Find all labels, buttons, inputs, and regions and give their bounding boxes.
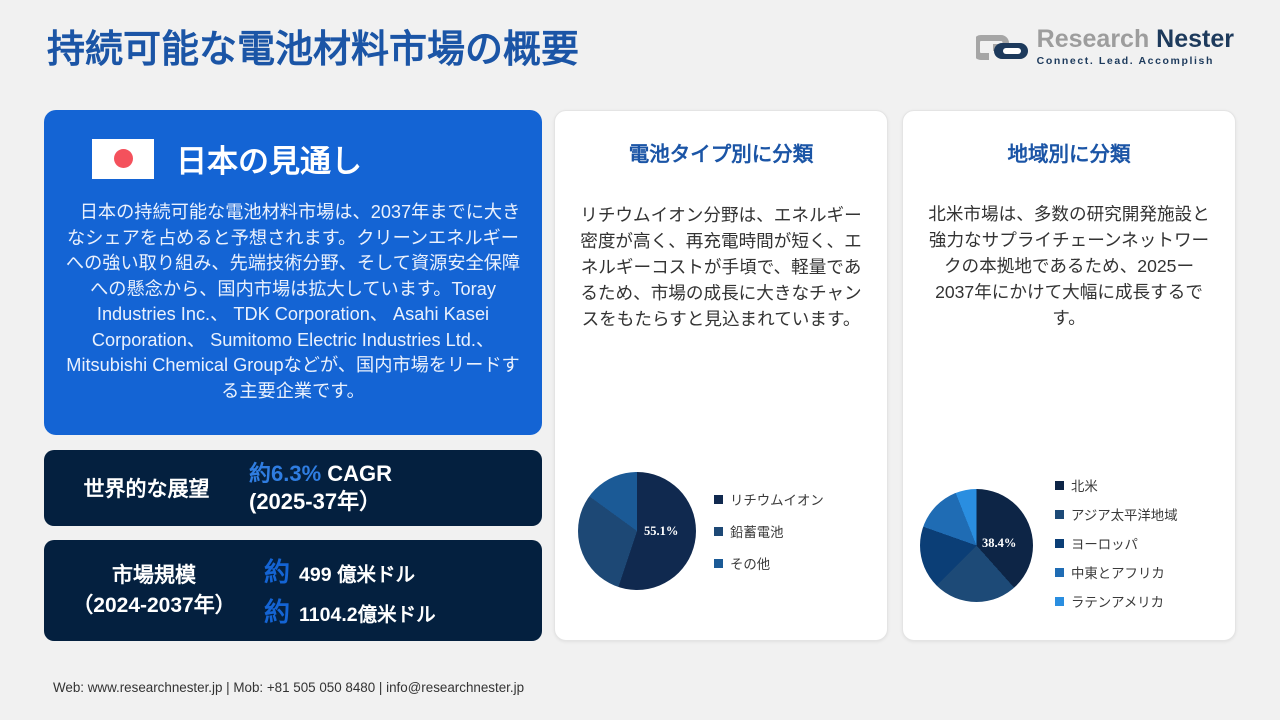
region-pie-graphic: 38.4% bbox=[920, 489, 1033, 602]
legend-label: 北米 bbox=[1071, 475, 1098, 495]
market-size-approx-2: 約 bbox=[264, 592, 290, 629]
legend-label: 中東とアフリカ bbox=[1071, 562, 1165, 582]
battery-type-card-title: 電池タイプ別に分類 bbox=[555, 137, 887, 167]
legend-label: その他 bbox=[730, 553, 770, 573]
logo-wordmark: Research Nester bbox=[1037, 26, 1234, 52]
region-pie-legend: 北米 アジア太平洋地域 ヨーロッパ 中東とアフリカ ラテンアメリカ bbox=[1055, 466, 1178, 620]
legend-swatch-icon bbox=[1055, 539, 1064, 548]
logo-tagline: Connect. Lead. Accomplish bbox=[1037, 54, 1234, 68]
logo-text: Research Nester Connect. Lead. Accomplis… bbox=[1037, 26, 1234, 68]
battery-type-pie-datalabel: 55.1% bbox=[644, 524, 678, 539]
cagr-box-value: 約6.3% CAGR (2025-37年） bbox=[249, 460, 542, 516]
legend-label: ヨーロッパ bbox=[1071, 533, 1138, 553]
legend-label: 鉛蓄電池 bbox=[730, 521, 784, 541]
legend-item: ヨーロッパ bbox=[1055, 533, 1178, 553]
market-size-label-line2: （2024-2037年） bbox=[72, 594, 235, 617]
legend-swatch-icon bbox=[714, 495, 723, 504]
market-size-label-line1: 市場規模 bbox=[112, 564, 196, 587]
legend-item: ラテンアメリカ bbox=[1055, 591, 1178, 611]
legend-swatch-icon bbox=[1055, 568, 1064, 577]
cagr-box-label: 世界的な展望 bbox=[44, 473, 249, 503]
japan-card-body: 日本の持続可能な電池材料市場は、2037年までに大きなシェアを占めると予想されま… bbox=[64, 200, 522, 404]
logo-mark-icon bbox=[976, 29, 1028, 65]
market-size-box: 市場規模 （2024-2037年） 約 499 億米ドル 約 1104.2億米ド… bbox=[44, 540, 542, 641]
legend-swatch-icon bbox=[714, 559, 723, 568]
page-title: 持続可能な電池材料市場の概要 bbox=[47, 18, 579, 73]
battery-type-pie-legend: リチウムイオン 鉛蓄電池 その他 bbox=[714, 477, 824, 585]
legend-swatch-icon bbox=[1055, 597, 1064, 606]
legend-swatch-icon bbox=[1055, 510, 1064, 519]
market-size-values: 約 499 億米ドル 約 1104.2億米ドル bbox=[264, 549, 542, 632]
japan-flag-icon bbox=[92, 139, 154, 179]
legend-label: アジア太平洋地域 bbox=[1071, 504, 1178, 524]
japan-flag-sun bbox=[114, 149, 133, 168]
battery-type-pie-graphic: 55.1% bbox=[578, 472, 696, 590]
battery-type-pie-chart: 55.1% リチウムイオン 鉛蓄電池 その他 bbox=[578, 472, 824, 590]
legend-item: 中東とアフリカ bbox=[1055, 562, 1178, 582]
legend-label: リチウムイオン bbox=[730, 489, 824, 509]
legend-item: その他 bbox=[714, 553, 824, 573]
legend-item: 北米 bbox=[1055, 475, 1178, 495]
legend-label: ラテンアメリカ bbox=[1071, 591, 1164, 611]
region-pie-chart: 38.4% 北米 アジア太平洋地域 ヨーロッパ 中東とアフリカ ラテンアメリカ bbox=[920, 470, 1178, 620]
region-card-title: 地域別に分類 bbox=[903, 137, 1235, 167]
cagr-percent: 約6.3% bbox=[249, 461, 321, 486]
japan-outlook-card: 日本の見通し 日本の持続可能な電池材料市場は、2037年までに大きなシェアを占め… bbox=[44, 110, 542, 435]
legend-item: 鉛蓄電池 bbox=[714, 521, 824, 541]
battery-type-card-body: リチウムイオン分野は、エネルギー密度が高く、再充電時間が短く、エネルギーコストが… bbox=[579, 202, 863, 332]
region-card-body: 北米市場は、多数の研究開発施設と強力なサプライチェーンネットワークの本拠地である… bbox=[927, 201, 1211, 331]
market-size-row-2024: 約 499 億米ドル bbox=[264, 552, 532, 589]
market-size-value-1: 499 億米ドル bbox=[299, 558, 415, 587]
market-size-approx-1: 約 bbox=[264, 552, 290, 589]
japan-card-header: 日本の見通し bbox=[92, 136, 522, 181]
market-size-label: 市場規模 （2024-2037年） bbox=[44, 561, 264, 621]
footer-contact: Web: www.researchnester.jp | Mob: +81 50… bbox=[53, 680, 524, 695]
research-nester-logo: Research Nester Connect. Lead. Accomplis… bbox=[976, 23, 1234, 71]
japan-card-title: 日本の見通し bbox=[176, 136, 362, 181]
logo-word-research: Research bbox=[1037, 25, 1150, 53]
legend-swatch-icon bbox=[1055, 481, 1064, 490]
global-outlook-cagr-box: 世界的な展望 約6.3% CAGR (2025-37年） bbox=[44, 450, 542, 526]
legend-item: アジア太平洋地域 bbox=[1055, 504, 1178, 524]
market-size-value-2: 1104.2億米ドル bbox=[299, 598, 436, 627]
legend-item: リチウムイオン bbox=[714, 489, 824, 509]
legend-swatch-icon bbox=[714, 527, 723, 536]
page-header: 持続可能な電池材料市場の概要 Research Nester Connect. … bbox=[0, 0, 1280, 95]
cagr-unit: CAGR bbox=[321, 461, 392, 486]
logo-word-nester: Nester bbox=[1149, 25, 1234, 53]
cagr-period: (2025-37年） bbox=[249, 489, 381, 514]
region-pie-datalabel: 38.4% bbox=[982, 536, 1016, 551]
market-size-row-2037: 約 1104.2億米ドル bbox=[264, 592, 532, 629]
